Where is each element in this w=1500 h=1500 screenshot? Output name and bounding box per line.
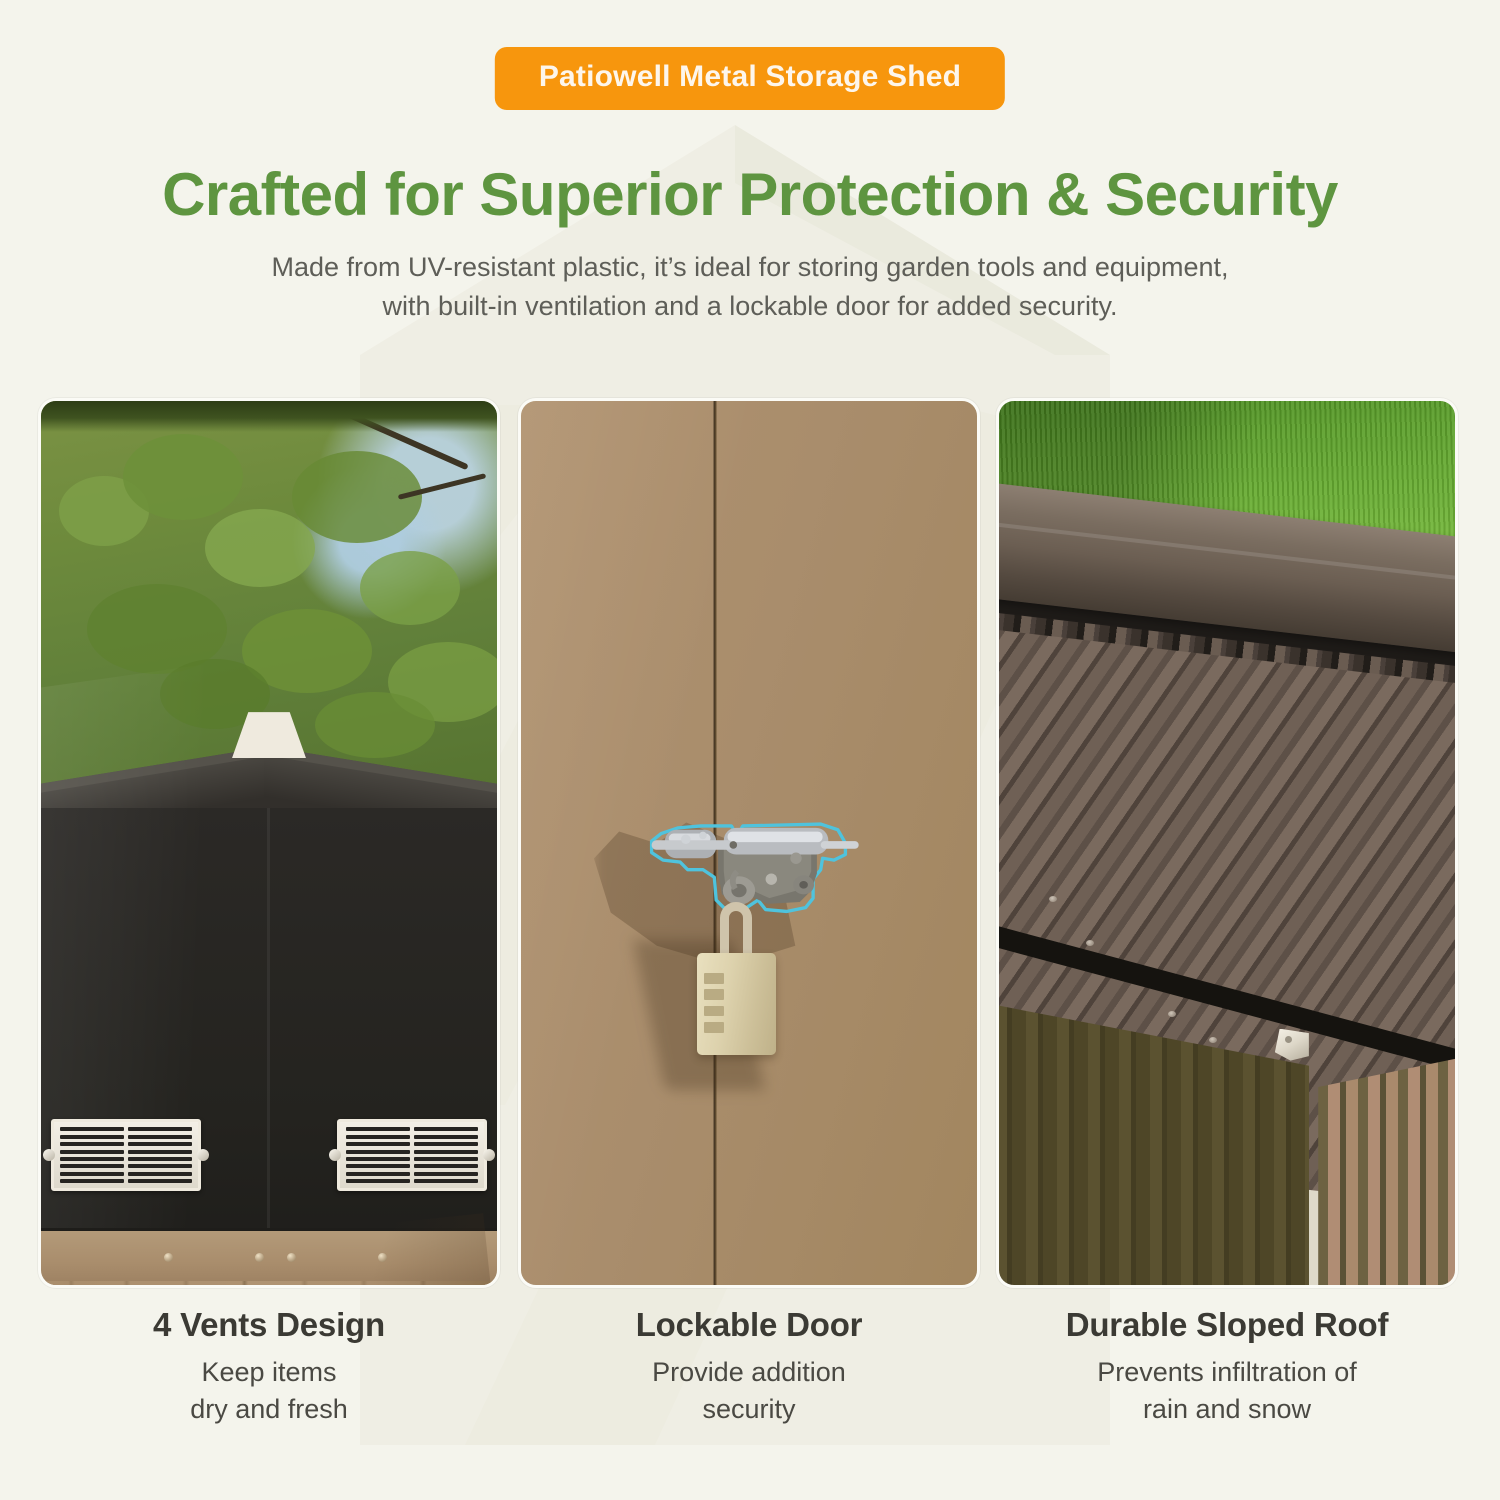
caption-title: 4 Vents Design	[38, 1305, 500, 1345]
louvered-vent-right	[337, 1119, 487, 1191]
caption-desc-line-2: rain and snow	[996, 1391, 1458, 1428]
feature-image-vents	[38, 398, 500, 1288]
subtitle-line-1: Made from UV-resistant plastic, it’s ide…	[0, 248, 1500, 287]
padlock-icon	[697, 936, 777, 1055]
caption-title: Lockable Door	[518, 1305, 980, 1345]
caption-vents: 4 Vents Design Keep items dry and fresh	[38, 1305, 500, 1428]
dark-canopy-band	[41, 401, 497, 432]
page-subtitle: Made from UV-resistant plastic, it’s ide…	[0, 248, 1500, 326]
caption-sloped-roof: Durable Sloped Roof Prevents infiltratio…	[996, 1305, 1458, 1428]
feature-image-lockable-door	[518, 398, 980, 1288]
caption-desc-line-1: Prevents infiltration of	[996, 1354, 1458, 1391]
caption-description: Keep items dry and fresh	[38, 1354, 500, 1429]
caption-desc-line-2: dry and fresh	[38, 1391, 500, 1428]
caption-desc-line-1: Provide addition	[518, 1354, 980, 1391]
subtitle-line-2: with built-in ventilation and a lockable…	[0, 287, 1500, 326]
page-title: Crafted for Superior Protection & Securi…	[0, 160, 1500, 229]
shed-wall-lit	[1318, 1055, 1455, 1285]
caption-description: Provide addition security	[518, 1354, 980, 1429]
feature-panels	[0, 398, 1500, 1288]
caption-lockable-door: Lockable Door Provide addition security	[518, 1305, 980, 1428]
tan-vertical-siding	[41, 1281, 497, 1285]
caption-desc-line-2: security	[518, 1391, 980, 1428]
caption-title: Durable Sloped Roof	[996, 1305, 1458, 1345]
caption-description: Prevents infiltration of rain and snow	[996, 1354, 1458, 1429]
louvered-vent-left	[51, 1119, 201, 1191]
caption-desc-line-1: Keep items	[38, 1354, 500, 1391]
product-badge: Patiowell Metal Storage Shed	[495, 47, 1005, 110]
feature-image-sloped-roof	[996, 398, 1458, 1288]
shed-gable-wall	[41, 808, 497, 1250]
